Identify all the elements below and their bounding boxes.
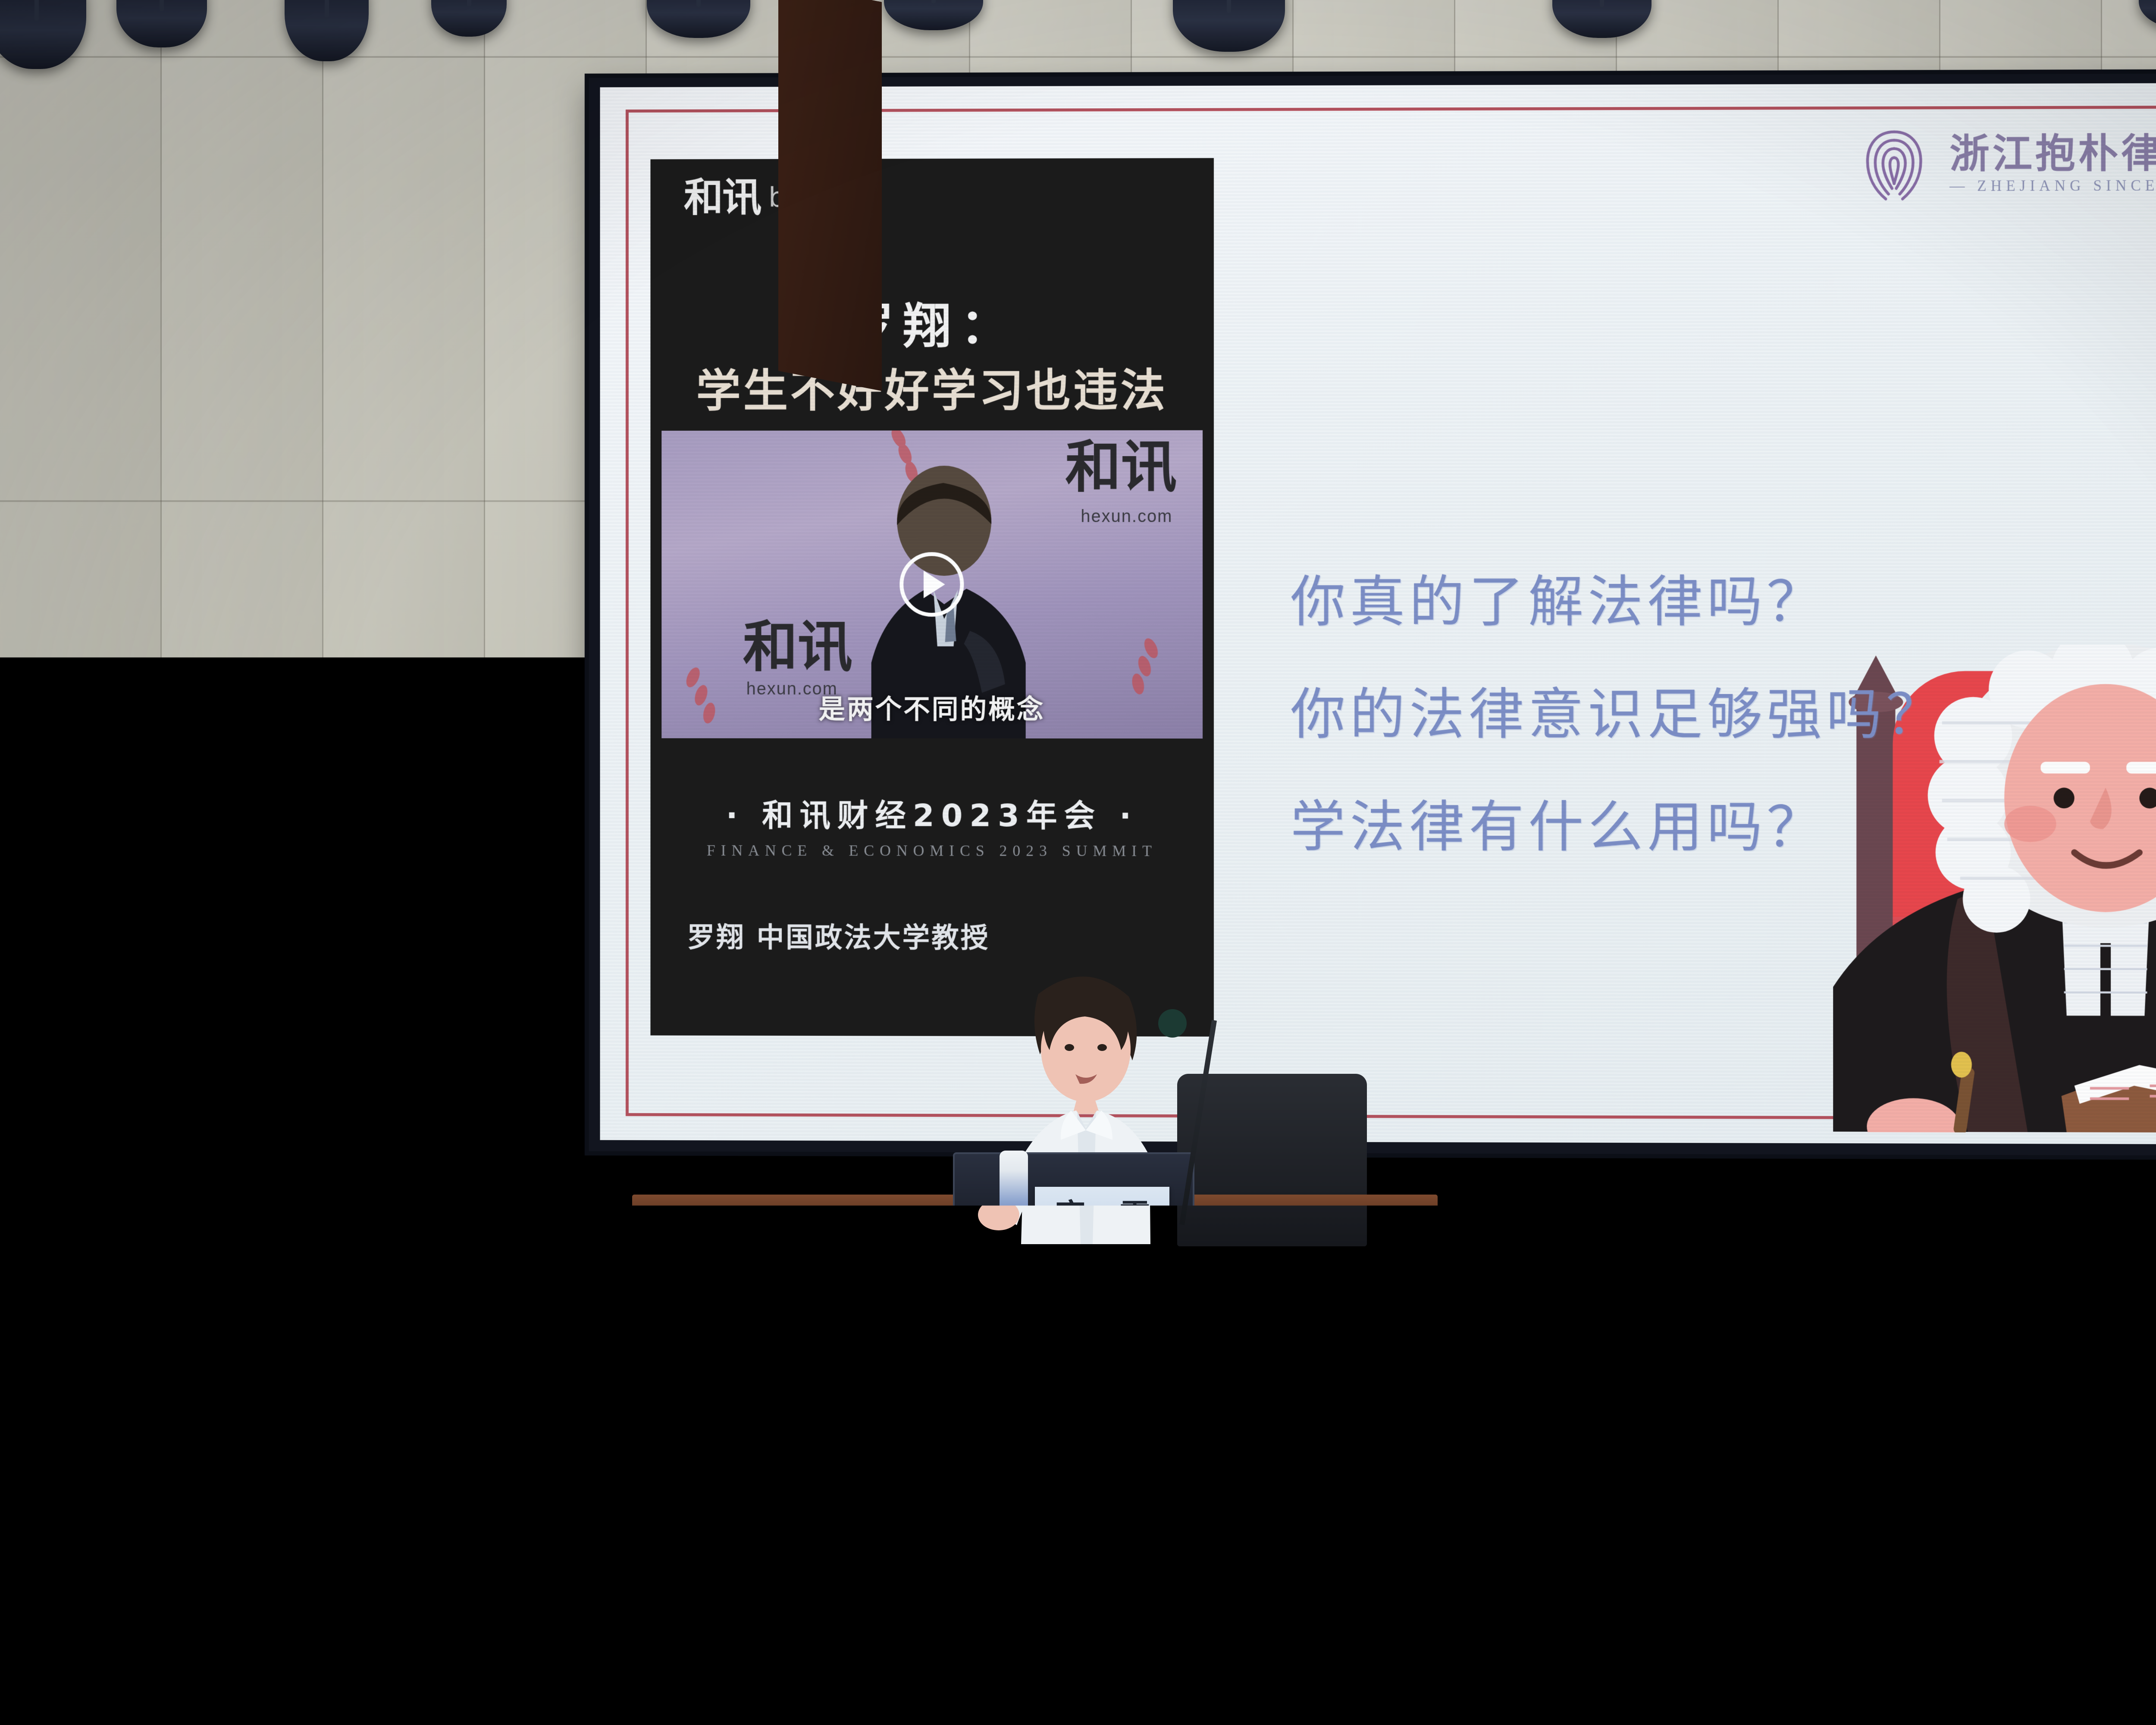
- fingerprint-ear-logo-icon: [1858, 126, 1930, 204]
- hexun-logo: 和讯: [684, 179, 761, 216]
- banner-url-top: hexun.com: [1081, 507, 1172, 526]
- video-still-frame[interactable]: 和讯 hexun.com 和讯 hexun.com: [661, 430, 1203, 739]
- question-list: 你真的了解法律吗？ 你的法律意识足够强吗？ 学法律有什么用吗？: [1291, 557, 1946, 896]
- question-line-2: 你的法律意识足够强吗？: [1291, 670, 1946, 750]
- video-footer-en: FINANCE & ECONOMICS 2023 SUMMIT: [650, 841, 1214, 860]
- video-footer-credit: 罗翔 中国政法大学教授: [687, 915, 990, 955]
- question-line-1: 你真的了解法律吗？: [1291, 557, 1946, 637]
- audience-head: [1639, 1570, 1781, 1725]
- audience-head: [1457, 1540, 1604, 1725]
- video-footer-cn: · 和讯财经2023年会 ·: [650, 790, 1214, 835]
- video-title-line1: 罗翔：: [650, 287, 1214, 358]
- audience-head: [315, 1591, 444, 1725]
- logo-english-name: — ZHEJIANG SINCERE LAW FIRM —: [1949, 177, 2156, 195]
- play-button-icon[interactable]: [899, 552, 964, 617]
- microphone-head: [1158, 1009, 1187, 1038]
- yellow-cap-icon: [126, 1526, 243, 1590]
- wall-panel: [0, 0, 162, 1238]
- video-title-line2: 学生不好好学习也违法: [650, 354, 1214, 420]
- banner-hexun-logo-top: 和讯: [1065, 441, 1177, 494]
- audience-shoulders: [470, 1686, 677, 1725]
- logo-chinese-name: 浙江抱朴律师事务所: [1949, 133, 2156, 174]
- audience-row: [0, 1527, 2156, 1725]
- water-bottle: [1000, 1151, 1028, 1242]
- auditorium-scene: 浙江抱朴律师事务所 — ZHEJIANG SINCERE LAW FIRM — …: [0, 0, 2156, 1725]
- podium-right-side: [778, 0, 882, 391]
- banner-hexun-logo-bottom: 和讯: [743, 621, 852, 674]
- audience-shoulders: [1207, 1695, 1432, 1725]
- video-subtitle: 是两个不同的概念: [661, 687, 1203, 726]
- audience-shoulders: [1932, 1690, 2156, 1725]
- audience-head: [1087, 1613, 1216, 1725]
- nameplate-text: 唐 霞: [1042, 1190, 1162, 1236]
- question-line-3: 学法律有什么用吗？: [1291, 782, 1946, 863]
- wall-panel: [323, 0, 485, 1238]
- video-thumbnail-card[interactable]: 和讯 bilibili 罗翔： 学生不好好学习也违法 和讯 hexun.com …: [650, 158, 1214, 1036]
- law-firm-logo: 浙江抱朴律师事务所 — ZHEJIANG SINCERE LAW FIRM —: [1858, 125, 2156, 203]
- nameplate: 唐 霞: [1035, 1187, 1169, 1239]
- wall-panel: [162, 0, 323, 1238]
- audience-shoulders: [858, 1682, 1082, 1725]
- audience-head: [1824, 1600, 1953, 1725]
